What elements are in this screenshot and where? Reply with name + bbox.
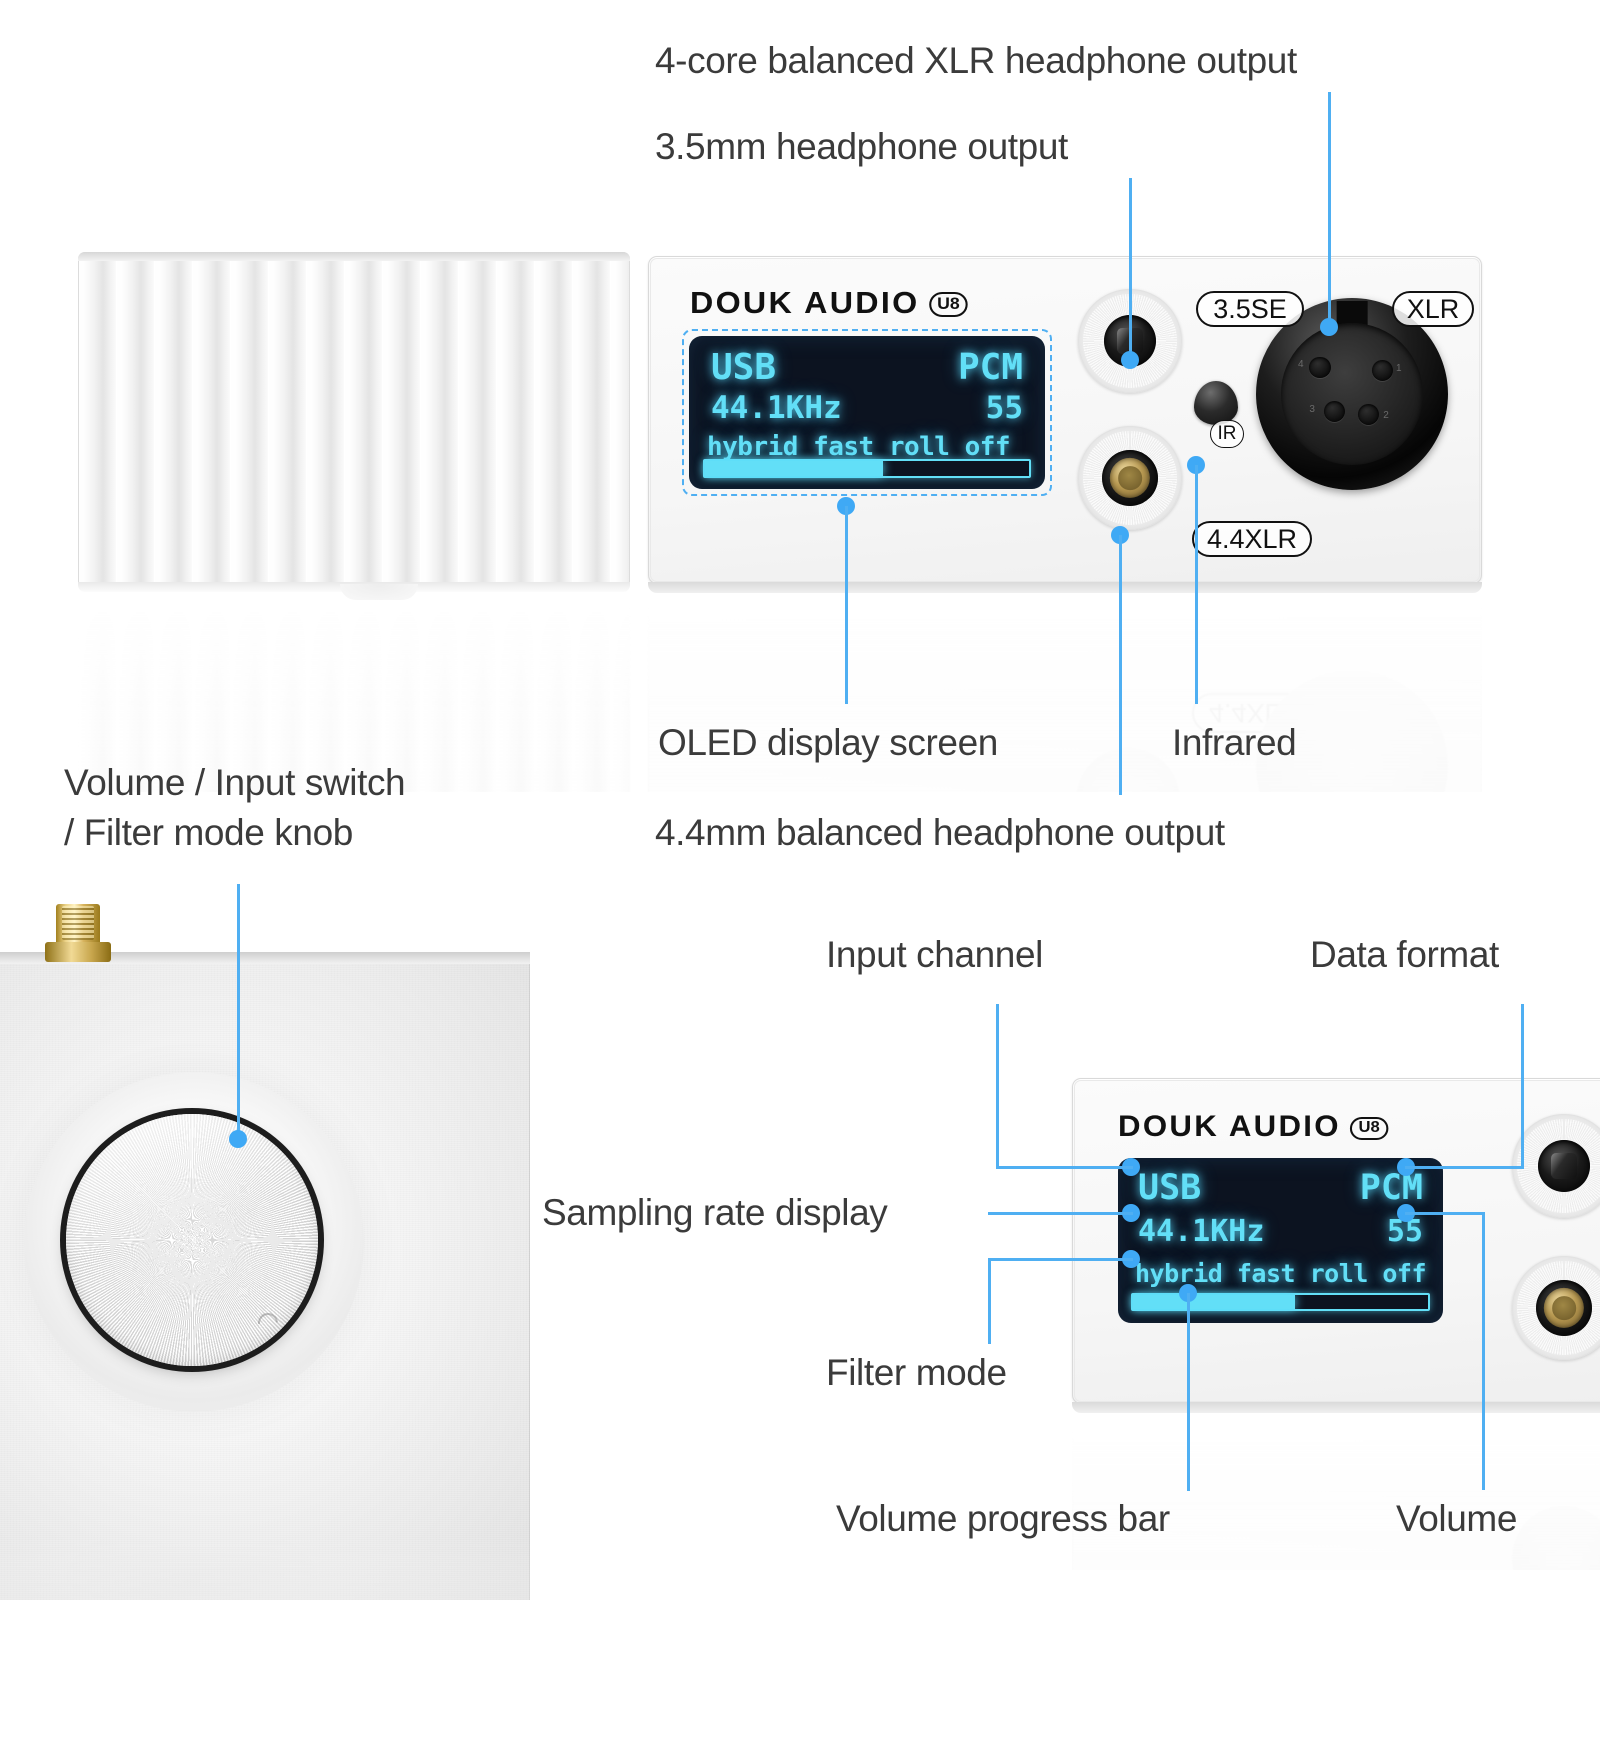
volume-input-filter-knob[interactable] — [66, 1114, 318, 1366]
port-label-ir: IR — [1210, 420, 1244, 448]
leader-line-filter-mode-h — [988, 1258, 1133, 1261]
knob-gloss — [66, 1114, 318, 1366]
xlr-pin-label-4: 4 — [1298, 358, 1304, 369]
leader-line-3-5mm-output — [1129, 178, 1132, 361]
oled-data-format: PCM — [958, 347, 1023, 388]
leader-line-sampling-rate — [988, 1212, 1133, 1215]
port-label-4-4xlr: 4.4XLR — [1192, 521, 1312, 557]
xlr-pin-label-3: 3 — [1309, 404, 1315, 415]
faceplate-bottom-edge — [648, 582, 1482, 593]
leader-line-data-format-v — [1521, 1004, 1524, 1167]
oled-sampling-rate: 44.1KHz — [711, 390, 842, 426]
oled-volume-progress-fill — [705, 461, 883, 476]
callout-input-channel: Input channel — [826, 930, 1043, 980]
top-device-front-panel: DOUK AUDIOU8 USB PCM 44.1KHz 55 hybrid f… — [78, 252, 1482, 588]
oled-volume-progress-bar — [703, 459, 1031, 478]
leader-line-knob — [237, 884, 240, 1142]
bottom-headphone-jack-4-4mm[interactable] — [1512, 1256, 1600, 1360]
headphone-jack-4-4mm-balanced[interactable] — [1078, 426, 1182, 530]
oled-filter-mode: hybrid fast roll off — [707, 432, 1010, 462]
bottom-oled-input-channel: USB — [1138, 1168, 1201, 1208]
bottom-brand-name: DOUK AUDIO — [1118, 1110, 1341, 1143]
callout-xlr-output: 4-core balanced XLR headphone output — [655, 36, 1297, 86]
leader-line-infrared — [1195, 465, 1198, 704]
leader-dot-xlr-output — [1320, 318, 1338, 336]
callout-3-5mm-output: 3.5mm headphone output — [655, 122, 1068, 172]
xlr-pin-3 — [1324, 401, 1345, 422]
xlr-face: 4 1 3 2 — [1281, 323, 1423, 465]
leader-line-volume-bar — [1187, 1293, 1190, 1491]
front-faceplate: DOUK AUDIOU8 USB PCM 44.1KHz 55 hybrid f… — [648, 256, 1482, 584]
heatsink-top-edge — [78, 252, 630, 261]
bottom-oled-volume-progress-fill — [1133, 1295, 1295, 1309]
xlr-pin-4 — [1309, 357, 1330, 378]
heatsink-fins — [78, 252, 630, 588]
bottom-brand-model-badge: U8 — [1350, 1117, 1388, 1140]
callout-volume: Volume — [1396, 1494, 1517, 1544]
leader-line-input-channel-v — [996, 1004, 999, 1167]
leader-dot-3-5mm-output — [1121, 351, 1139, 369]
leader-line-input-channel-h — [996, 1166, 1133, 1169]
leader-line-volume-v — [1482, 1212, 1485, 1490]
bottom-jack-3-5mm-hole — [1538, 1140, 1590, 1192]
oled-input-channel: USB — [711, 347, 776, 388]
xlr-pin-label-1: 1 — [1396, 363, 1402, 374]
bottom-oled-data-format: PCM — [1360, 1168, 1423, 1208]
bottom-oled-sampling-rate: 44.1KHz — [1138, 1214, 1264, 1249]
port-label-3-5se: 3.5SE — [1196, 291, 1304, 327]
leader-dot-knob — [229, 1130, 247, 1148]
chassis-foot — [340, 584, 418, 600]
callout-volume-progress-bar: Volume progress bar — [836, 1494, 1170, 1544]
callout-knob: Volume / Input switch / Filter mode knob — [64, 758, 405, 857]
bottom-oled-display-screen: USB PCM 44.1KHz 55 hybrid fast roll off — [1118, 1158, 1443, 1323]
leader-line-data-format-h — [1405, 1166, 1524, 1169]
leader-line-filter-mode-v — [988, 1258, 991, 1344]
sma-antenna-connector — [56, 904, 100, 962]
xlr-pin-2 — [1358, 404, 1379, 425]
oled-volume-value: 55 — [986, 390, 1023, 426]
leader-line-volume-h — [1405, 1212, 1485, 1215]
bottom-oled-volume-progress-bar — [1131, 1293, 1430, 1311]
oled-display-screen: USB PCM 44.1KHz 55 hybrid fast roll off — [689, 336, 1045, 489]
jack-4-4mm-hole — [1102, 450, 1158, 506]
leader-line-oled — [845, 506, 848, 704]
device-rear-chassis — [0, 962, 530, 1600]
callout-4-4mm-output: 4.4mm balanced headphone output — [655, 808, 1225, 858]
brand-name: DOUK AUDIO — [690, 285, 919, 320]
bottom-brand-logo: DOUK AUDIOU8 — [1118, 1110, 1388, 1144]
brand-model-badge: U8 — [929, 292, 968, 317]
bottom-faceplate-bottom-edge — [1072, 1402, 1600, 1413]
callout-filter-mode: Filter mode — [826, 1348, 1007, 1398]
port-label-xlr: XLR — [1392, 291, 1474, 327]
callout-infrared: Infrared — [1172, 718, 1296, 768]
callout-sampling-rate: Sampling rate display — [542, 1188, 887, 1238]
bottom-jack-4-4mm-hole — [1536, 1280, 1592, 1336]
leader-line-xlr-output — [1328, 92, 1331, 328]
callout-data-format: Data format — [1310, 930, 1499, 980]
bottom-headphone-jack-3-5mm[interactable] — [1512, 1114, 1600, 1218]
callout-oled: OLED display screen — [658, 718, 998, 768]
bottom-oled-filter-mode: hybrid fast roll off — [1135, 1259, 1426, 1288]
leader-line-4-4mm-output — [1119, 535, 1122, 795]
xlr-pin-label-2: 2 — [1383, 410, 1389, 421]
brand-logo: DOUK AUDIOU8 — [690, 285, 968, 321]
sma-threads — [62, 906, 94, 940]
infrared-receiver-dome — [1194, 381, 1238, 425]
xlr-pin-1 — [1372, 360, 1393, 381]
